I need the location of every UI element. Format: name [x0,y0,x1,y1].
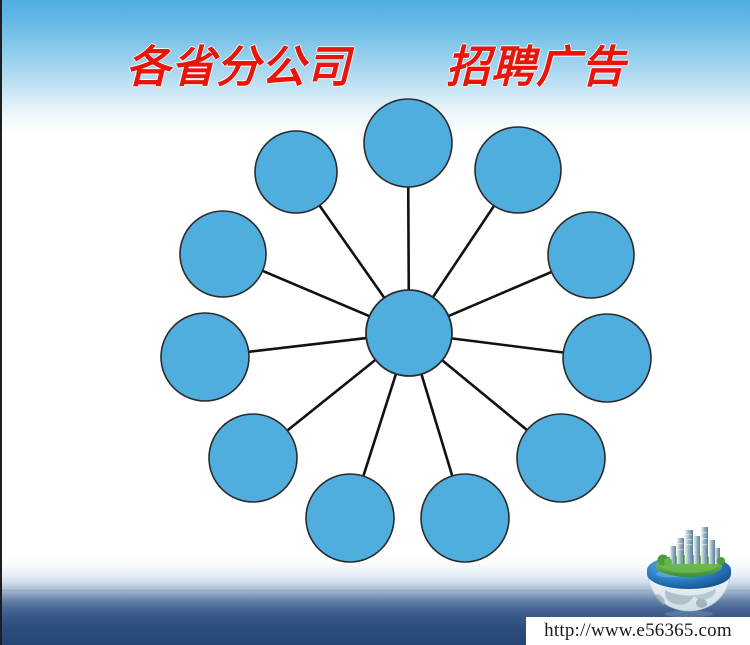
branch-node-7[interactable] [306,474,394,562]
watermark-url-text: http://www.e56365.com [544,620,732,642]
branch-node-1[interactable] [364,99,452,187]
spoke-line-8 [287,359,377,431]
branch-node-6[interactable] [421,474,509,562]
branch-node-4[interactable] [563,314,651,402]
slide-canvas: 各省分公司 招聘广告 [0,0,750,645]
branch-node-2[interactable] [475,127,561,213]
spoke-line-1 [408,186,409,291]
branch-node-5[interactable] [517,414,605,502]
spoke-line-11 [319,205,385,299]
spoke-line-10 [262,270,371,316]
spoke-line-6 [421,373,452,477]
globe-with-city-logo [636,524,742,620]
spoke-line-3 [448,272,553,317]
watermark-url-box: http://www.e56365.com [526,617,750,645]
city-skyline [670,527,720,564]
branch-node-8[interactable] [209,414,297,502]
spoke-line-9 [248,338,368,352]
hub-node-group [366,290,452,376]
hub-node[interactable] [366,290,452,376]
spoke-line-2 [432,205,494,298]
spoke-line-5 [441,360,527,431]
spoke-line-4 [451,338,565,352]
branch-node-10[interactable] [180,211,266,297]
branch-node-11[interactable] [255,131,337,213]
branch-node-3[interactable] [548,212,634,298]
branch-node-9[interactable] [161,313,249,401]
spoke-line-7 [363,373,396,477]
